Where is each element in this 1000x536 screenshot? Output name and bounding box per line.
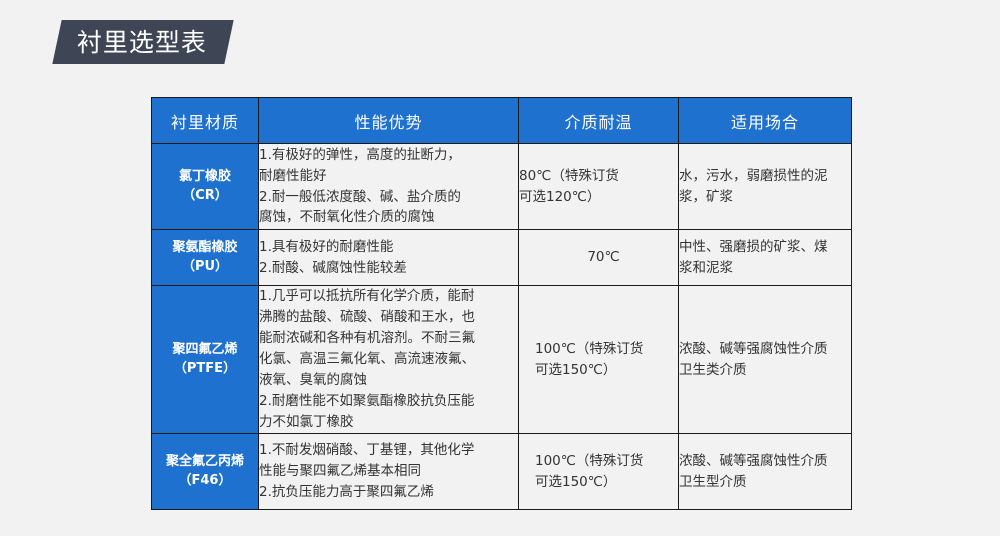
cell-application: 中性、强磨损的矿浆、煤 浆和泥浆 bbox=[679, 230, 852, 286]
cell-performance: 1.有极好的弹性，高度的扯断力， 耐磨性能好 2.耐一般低浓度酸、碱、盐介质的 … bbox=[259, 144, 519, 230]
performance-line: 2.耐酸、碱腐蚀性能较差 bbox=[259, 258, 518, 279]
column-header-temperature: 介质耐温 bbox=[519, 98, 679, 144]
cell-temperature: 70℃ bbox=[519, 230, 679, 286]
performance-line: 沸腾的盐酸、硫酸、硝酸和王水，也 bbox=[259, 307, 518, 328]
temperature-line: 可选120℃） bbox=[519, 187, 678, 208]
performance-line: 力不如氯丁橡胶 bbox=[259, 412, 518, 433]
temperature-line: 100℃（特殊订货 bbox=[535, 451, 678, 472]
cell-temperature: 100℃（特殊订货 可选150℃） bbox=[519, 434, 679, 510]
temperature-line: 70℃ bbox=[529, 247, 678, 268]
performance-line: 2.耐一般低浓度酸、碱、盐介质的 bbox=[259, 187, 518, 208]
material-name: 聚氨酯橡胶 bbox=[152, 239, 258, 258]
material-abbr: （PTFE） bbox=[152, 360, 258, 379]
material-name: 氯丁橡胶 bbox=[152, 168, 258, 187]
performance-line: 腐蚀，不耐氧化性介质的腐蚀 bbox=[259, 207, 518, 228]
application-line: 中性、强磨损的矿浆、煤 bbox=[679, 237, 851, 258]
temperature-line: 可选150℃） bbox=[535, 472, 678, 493]
material-name: 聚全氟乙丙烯 bbox=[152, 453, 258, 472]
column-header-material: 衬里材质 bbox=[152, 98, 259, 144]
material-abbr: （F46） bbox=[152, 472, 258, 491]
cell-material: 聚四氟乙烯 （PTFE） bbox=[152, 286, 259, 434]
application-line: 浆，矿浆 bbox=[679, 187, 851, 208]
application-line: 卫生型介质 bbox=[679, 472, 851, 493]
page-title: 衬里选型表 bbox=[77, 30, 207, 55]
cell-temperature: 80℃（特殊订货 可选120℃） bbox=[519, 144, 679, 230]
column-header-performance: 性能优势 bbox=[259, 98, 519, 144]
performance-line: 2.抗负压能力高于聚四氟乙烯 bbox=[259, 482, 518, 503]
performance-line: 1.有极好的弹性，高度的扯断力， bbox=[259, 145, 518, 166]
material-name: 聚四氟乙烯 bbox=[152, 341, 258, 360]
performance-line: 能耐浓碱和各种有机溶剂。不耐三氟 bbox=[259, 328, 518, 349]
cell-performance: 1.具有极好的耐磨性能 2.耐酸、碱腐蚀性能较差 bbox=[259, 230, 519, 286]
performance-line: 耐磨性能好 bbox=[259, 166, 518, 187]
table-header-row: 衬里材质 性能优势 介质耐温 适用场合 bbox=[152, 98, 852, 144]
table-row: 氯丁橡胶 （CR） 1.有极好的弹性，高度的扯断力， 耐磨性能好 2.耐一般低浓… bbox=[152, 144, 852, 230]
performance-line: 1.不耐发烟硝酸、丁基锂，其他化学 bbox=[259, 440, 518, 461]
cell-temperature: 100℃（特殊订货 可选150℃） bbox=[519, 286, 679, 434]
table-row: 聚四氟乙烯 （PTFE） 1.几乎可以抵抗所有化学介质，能耐 沸腾的盐酸、硫酸、… bbox=[152, 286, 852, 434]
cell-application: 浓酸、碱等强腐蚀性介质 卫生类介质 bbox=[679, 286, 852, 434]
temperature-line: 100℃（特殊订货 bbox=[535, 339, 678, 360]
column-header-application: 适用场合 bbox=[679, 98, 852, 144]
performance-line: 性能与聚四氟乙烯基本相同 bbox=[259, 461, 518, 482]
cell-application: 水，污水，弱磨损性的泥 浆，矿浆 bbox=[679, 144, 852, 230]
cell-material: 聚氨酯橡胶 （PU） bbox=[152, 230, 259, 286]
table-row: 聚全氟乙丙烯 （F46） 1.不耐发烟硝酸、丁基锂，其他化学 性能与聚四氟乙烯基… bbox=[152, 434, 852, 510]
cell-performance: 1.不耐发烟硝酸、丁基锂，其他化学 性能与聚四氟乙烯基本相同 2.抗负压能力高于… bbox=[259, 434, 519, 510]
application-line: 浓酸、碱等强腐蚀性介质 bbox=[679, 339, 851, 360]
application-line: 卫生类介质 bbox=[679, 360, 851, 381]
page-title-banner: 衬里选型表 bbox=[52, 20, 233, 64]
material-abbr: （CR） bbox=[152, 187, 258, 206]
performance-line: 液氧、臭氧的腐蚀 bbox=[259, 370, 518, 391]
application-line: 浓酸、碱等强腐蚀性介质 bbox=[679, 451, 851, 472]
application-line: 水，污水，弱磨损性的泥 bbox=[679, 166, 851, 187]
temperature-line: 可选150℃） bbox=[535, 360, 678, 381]
temperature-line: 80℃（特殊订货 bbox=[519, 166, 678, 187]
performance-line: 化氯、高温三氟化氧、高流速液氟、 bbox=[259, 349, 518, 370]
application-line: 浆和泥浆 bbox=[679, 258, 851, 279]
performance-line: 1.几乎可以抵抗所有化学介质，能耐 bbox=[259, 286, 518, 307]
cell-performance: 1.几乎可以抵抗所有化学介质，能耐 沸腾的盐酸、硫酸、硝酸和王水，也 能耐浓碱和… bbox=[259, 286, 519, 434]
material-abbr: （PU） bbox=[152, 258, 258, 277]
table-row: 聚氨酯橡胶 （PU） 1.具有极好的耐磨性能 2.耐酸、碱腐蚀性能较差 70℃ … bbox=[152, 230, 852, 286]
performance-line: 1.具有极好的耐磨性能 bbox=[259, 237, 518, 258]
performance-line: 2.耐磨性能不如聚氨酯橡胶抗负压能 bbox=[259, 391, 518, 412]
lining-selection-table: 衬里材质 性能优势 介质耐温 适用场合 氯丁橡胶 （CR） 1.有极好的弹性，高… bbox=[151, 97, 852, 510]
cell-material: 氯丁橡胶 （CR） bbox=[152, 144, 259, 230]
cell-material: 聚全氟乙丙烯 （F46） bbox=[152, 434, 259, 510]
cell-application: 浓酸、碱等强腐蚀性介质 卫生型介质 bbox=[679, 434, 852, 510]
